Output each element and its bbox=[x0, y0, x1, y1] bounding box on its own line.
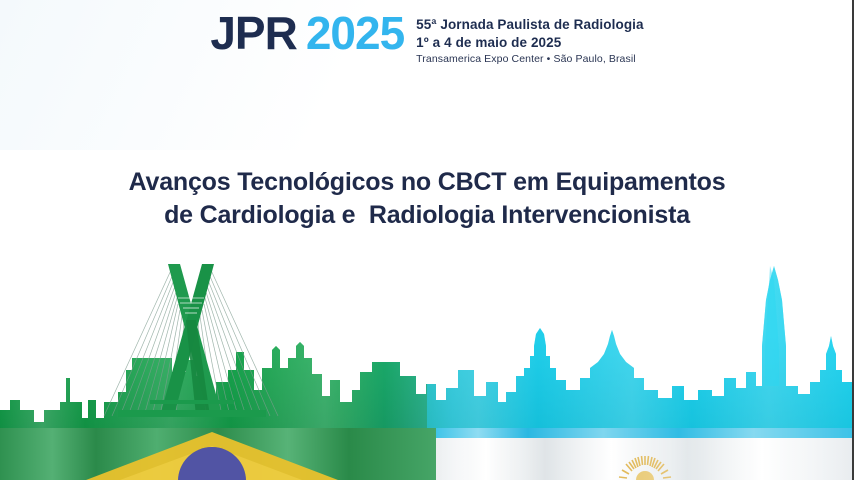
brazil-flag bbox=[0, 422, 436, 480]
skyline-artwork bbox=[0, 250, 854, 480]
jpr-logo-row: JPR 2025 55ª Jornada Paulista de Radiolo… bbox=[210, 10, 643, 68]
presentation-slide: JPR 2025 55ª Jornada Paulista de Radiolo… bbox=[0, 0, 854, 480]
title-line-2: de Cardiologia e Radiologia Intervencion… bbox=[0, 199, 854, 232]
jpr-brand-text: JPR bbox=[210, 10, 296, 56]
city-skyline bbox=[0, 250, 854, 428]
argentina-flag bbox=[436, 422, 854, 480]
jpr-year-text: 2025 bbox=[306, 10, 404, 56]
event-venue: Transamerica Expo Center • São Paulo, Br… bbox=[416, 52, 643, 68]
presentation-title: Avanços Tecnológicos no CBCT em Equipame… bbox=[0, 166, 854, 231]
event-dates: 1º a 4 de maio de 2025 bbox=[416, 34, 643, 52]
jpr-logo: JPR 2025 bbox=[210, 10, 404, 56]
event-name: 55ª Jornada Paulista de Radiologia bbox=[416, 16, 643, 34]
flags-band bbox=[0, 422, 854, 480]
event-info-block: 55ª Jornada Paulista de Radiologia 1º a … bbox=[416, 10, 643, 68]
event-header: JPR 2025 55ª Jornada Paulista de Radiolo… bbox=[0, 10, 854, 80]
title-line-1: Avanços Tecnológicos no CBCT em Equipame… bbox=[0, 166, 854, 199]
